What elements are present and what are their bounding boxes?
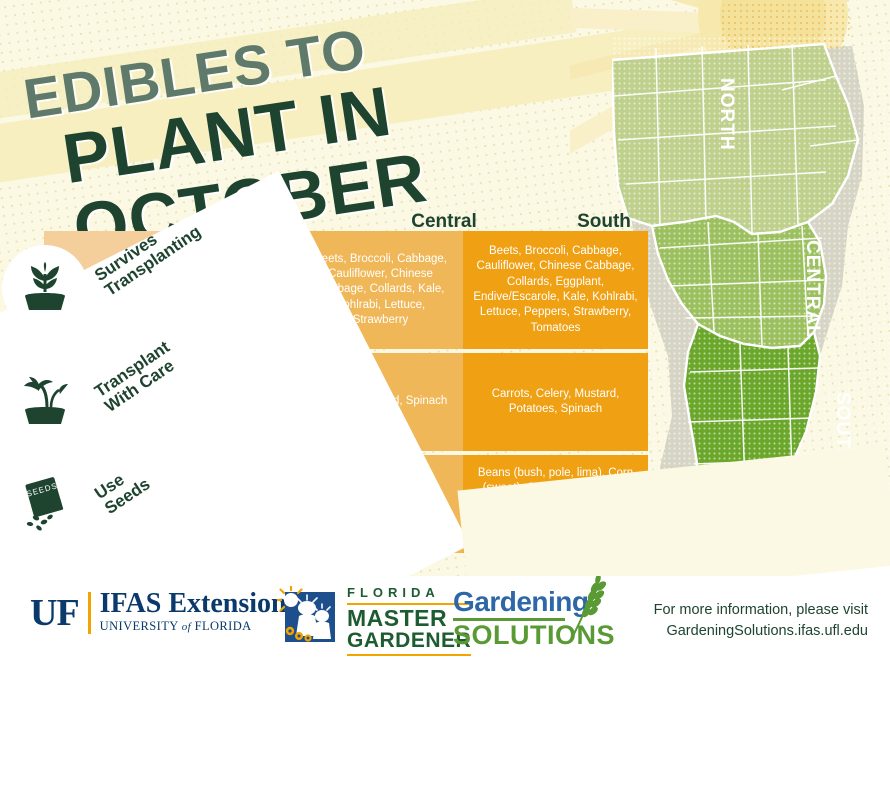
seedling-in-soil-icon xyxy=(2,245,88,331)
footer: UF IFAS Extension UNIVERSITY of FLORIDA xyxy=(0,576,890,668)
uf-university-line: UNIVERSITY of FLORIDA xyxy=(100,618,287,636)
master-gardener-emblem-icon xyxy=(277,586,339,648)
uf-sub-of: of xyxy=(182,621,191,633)
uf-sub-pre: UNIVERSITY xyxy=(100,619,182,633)
gardening-solutions-logo[interactable]: Gardening SOLUTIONS xyxy=(453,588,615,649)
florida-master-gardener-logo[interactable]: FLORIDA MASTER GARDENER xyxy=(277,586,471,657)
cell-south: Beets, Broccoli, Cabbage, Cauliflower, C… xyxy=(463,231,648,349)
uf-ifas-extension-logo[interactable]: UF IFAS Extension UNIVERSITY of FLORIDA xyxy=(30,590,287,636)
more-info-line-1: For more information, please visit xyxy=(654,600,868,621)
mg-divider-rule-bottom xyxy=(347,654,471,656)
more-info-line-2: GardeningSolutions.ifas.ufl.edu xyxy=(654,621,868,642)
map-label-central: CENTRAL xyxy=(801,240,823,338)
delicate-seedling-icon xyxy=(2,359,88,445)
column-header-south: South xyxy=(524,211,684,233)
wheat-stalk-icon xyxy=(563,576,615,643)
uf-sub-post: FLORIDA xyxy=(191,619,252,633)
column-header-central: Central xyxy=(364,211,524,233)
seed-packet-icon: SEEDS xyxy=(2,461,88,547)
uf-monogram: UF xyxy=(30,594,79,632)
uf-extension-name: IFAS Extension xyxy=(100,590,287,618)
uf-divider-bar xyxy=(88,592,91,634)
more-information-text: For more information, please visit Garde… xyxy=(654,600,868,642)
cell-south: Carrots, Celery, Mustard, Potatoes, Spin… xyxy=(463,353,648,451)
